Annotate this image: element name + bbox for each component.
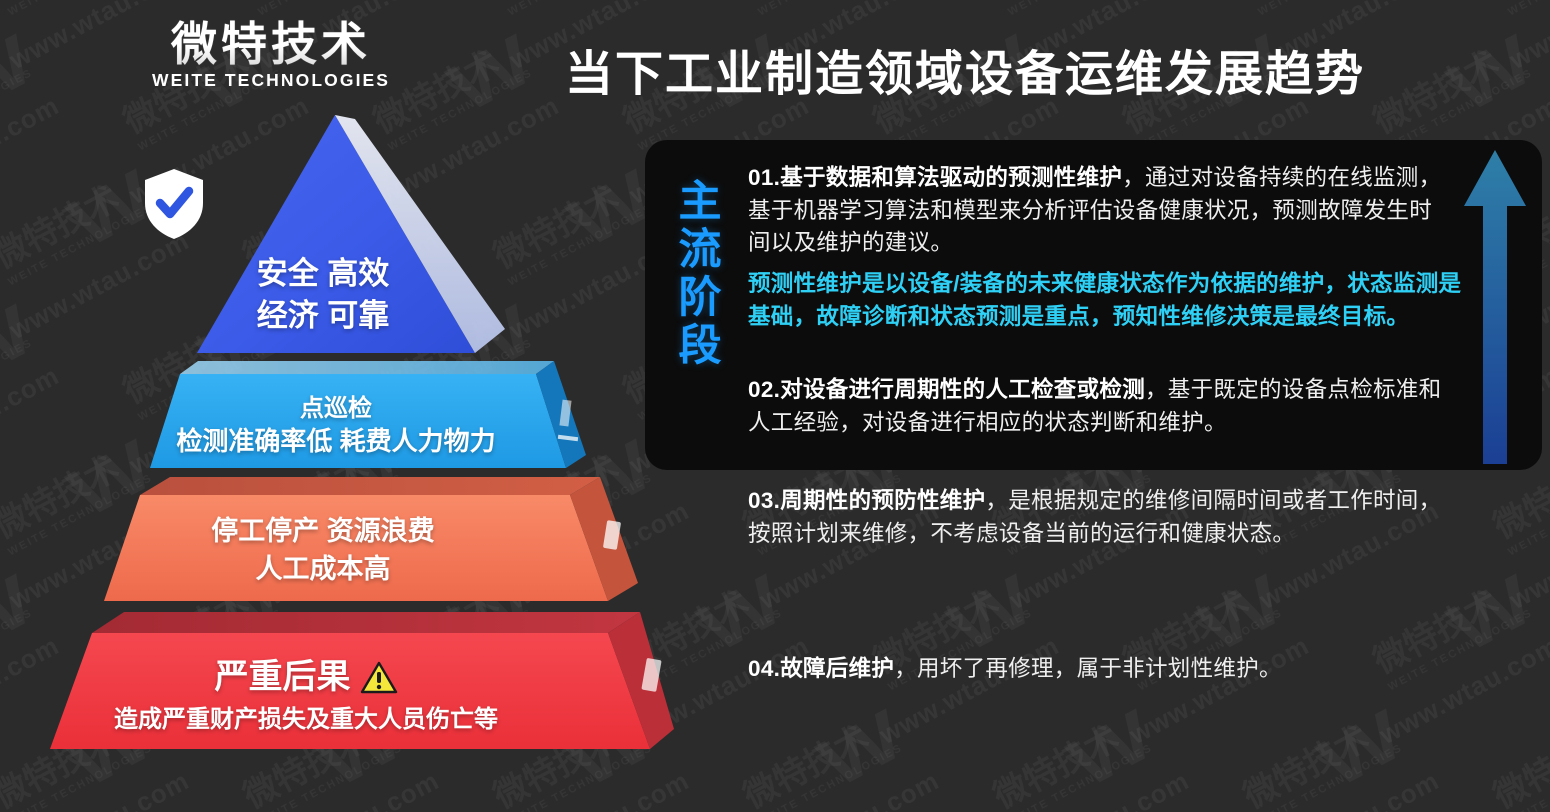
pyramid-tier-severe-line1-row: 严重后果 [0,657,636,698]
shield-check-icon [141,167,501,241]
pyramid-tier-top: 安全 高效 经济 可靠 [175,115,535,375]
watermark-domain: www.wtau.com [1004,765,1194,812]
watermark-domain: www.wtau.com [1504,495,1550,616]
watermark-domain: www.wtau.com [1124,630,1314,751]
watermark-domain: www.wtau.com [1254,765,1444,812]
watermark-brand: 微特技术WEITE TECHNOLOGIES [983,699,1155,812]
item-04-number: 04. [748,656,780,681]
item-01-paragraph: 01.基于数据和算法驱动的预测性维护，通过对设备持续的在线监测，基于机器学习算法… [748,162,1452,260]
watermark-logo-mark: W [1306,694,1416,803]
maintenance-maturity-pyramid: 安全 高效 经济 可靠 点巡检 检测准确率低 耗费人力物力 [0,95,700,795]
stage-label-char: 流 [672,226,728,274]
watermark-domain: www.wtau.com [1374,630,1550,751]
stage-label-char: 主 [672,178,728,226]
watermark-domain: www.wtau.com [874,630,1064,751]
item-03-bold: 周期性的预防性维护 [780,488,985,513]
pyramid-tier-downtime: 停工停产 资源浪费 人工成本高 [78,473,648,618]
pyramid-tier-inspection: 点巡检 检测准确率低 耗费人力物力 [118,358,598,483]
logo-chinese-name: 微特技术 [152,20,390,68]
item-04-rest: ，用坏了再修理，属于非计划性维护。 [894,656,1282,681]
header: 微特技术 WEITE TECHNOLOGIES 当下工业制造领域设备运维发展趋势 [0,0,1550,115]
watermark-domain: www.wtau.com [754,765,944,812]
item-04-bold: 故障后维护 [780,656,894,681]
watermark-domain: www.wtau.com [1504,765,1550,812]
pyramid-tier-severe-line1: 严重后果 [215,657,351,698]
page-title: 当下工业制造领域设备运维发展趋势 [565,34,1540,104]
item-02-number: 02. [748,377,780,402]
stage-label-char: 段 [672,322,728,370]
company-logo: 微特技术 WEITE TECHNOLOGIES [152,20,390,91]
item-02-paragraph: 02.对设备进行周期性的人工检查或检测，基于既定的设备点检标准和人工经验，对设备… [748,374,1454,439]
item-03-number: 03. [748,488,780,513]
warning-triangle-icon [360,661,398,695]
item-02-bold: 对设备进行周期性的人工检查或检测 [780,377,1145,402]
item-01-bold: 基于数据和算法驱动的预测性维护 [780,165,1122,190]
item-03-paragraph: 03.周期性的预防性维护，是根据规定的维修间隔时间或者工作时间，按照计划来维修，… [748,485,1454,550]
up-arrow-icon [1462,148,1528,471]
logo-english-name: WEITE TECHNOLOGIES [152,70,390,91]
watermark-brand: 微特技术WEITE TECHNOLOGIES [1483,699,1550,812]
item-04-paragraph: 04.故障后维护，用坏了再修理，属于非计划性维护。 [748,653,1454,686]
watermark-logo-mark: W [806,694,916,803]
predictive-maintenance-note: 预测性维护是以设备/装备的未来健康状态作为依据的维护，状态监测是基础，故障诊断和… [748,268,1468,333]
stage-vertical-label: 主流阶段 [672,178,728,371]
watermark-logo-mark: W [1056,694,1166,803]
stage-label-char: 阶 [672,274,728,322]
item-01-number: 01. [748,165,780,190]
watermark-brand: 微特技术WEITE TECHNOLOGIES [733,699,905,812]
watermark-brand: 微特技术WEITE TECHNOLOGIES [1233,699,1405,812]
pyramid-tier-severe: 严重后果 造成严重财产损失及重大人员伤亡等 [20,607,680,765]
